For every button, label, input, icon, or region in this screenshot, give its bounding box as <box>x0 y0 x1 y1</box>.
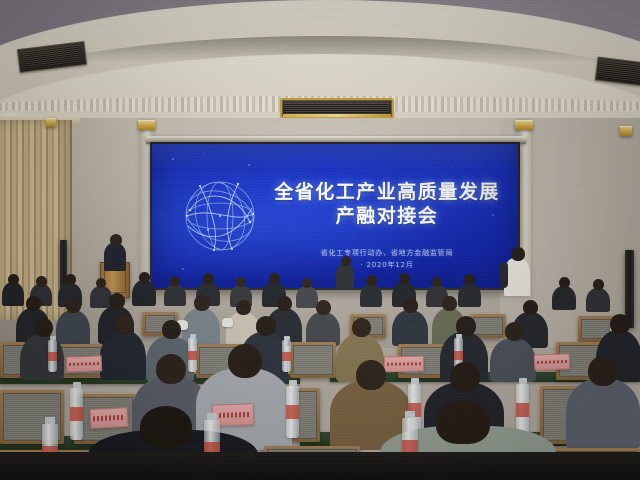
attendee-head <box>523 300 538 315</box>
attendee-head <box>170 276 180 286</box>
attendee-head <box>610 314 630 334</box>
podium-speaker-body <box>104 243 126 271</box>
pilaster-capital-left <box>138 120 155 130</box>
name-card <box>534 353 571 370</box>
attendee <box>296 286 318 308</box>
ceiling-vent-center-gold <box>282 100 392 117</box>
attendee-head <box>450 362 480 392</box>
led-presentation-screen: 全省化工产业高质量发展 产融对接会 省化工专项行动办、省地方金融监管局 · 20… <box>152 144 518 288</box>
water-bottle <box>70 388 83 440</box>
attendee <box>56 310 90 346</box>
attendee-head <box>559 277 570 288</box>
teacup <box>222 318 233 327</box>
attendee-head <box>505 322 524 341</box>
attendee-head <box>432 277 442 287</box>
attendee <box>458 283 481 307</box>
attendee-head <box>34 318 53 337</box>
attendee-head <box>356 360 386 390</box>
chair <box>290 342 336 378</box>
attendee-head <box>194 295 210 311</box>
attendee <box>566 378 640 450</box>
attendee <box>306 312 340 346</box>
conference-hall-photo: 全省化工产业高质量发展 产融对接会 省化工专项行动办、省地方金融监管局 · 20… <box>0 0 640 480</box>
attendee-head <box>366 275 377 286</box>
attendee <box>552 286 576 310</box>
attendee-head <box>162 320 181 339</box>
attendee-head <box>66 298 81 313</box>
attendee-foreground-head <box>436 400 490 444</box>
attendee-head <box>442 296 457 311</box>
attendee <box>360 284 382 307</box>
water-bottle <box>286 386 299 438</box>
attendee-head <box>302 278 312 288</box>
attendee-head <box>203 273 214 284</box>
attendee <box>132 280 156 306</box>
pilaster-capital-far-left <box>46 118 56 127</box>
attendee-head <box>109 293 125 309</box>
attendee <box>20 334 64 380</box>
name-card <box>384 356 424 373</box>
attendee-head <box>399 273 410 284</box>
attendee-foreground-head <box>140 406 192 448</box>
attendee-head <box>114 314 134 334</box>
attendee-head <box>26 296 41 311</box>
attendee-head <box>352 318 371 337</box>
pilaster-capital-far-right <box>620 126 632 136</box>
name-card <box>90 407 129 429</box>
attendee-head <box>403 298 418 313</box>
water-bottle <box>516 384 529 434</box>
attendee-head <box>65 274 76 285</box>
attendee-head <box>277 296 292 311</box>
attendee-head <box>236 300 251 315</box>
attendee-head <box>316 300 331 315</box>
name-card <box>66 355 103 372</box>
foreground-shadow <box>0 452 640 480</box>
audience-area <box>0 268 640 480</box>
attendee-head <box>156 354 186 384</box>
attendee <box>2 282 24 306</box>
attendee-head <box>96 278 106 288</box>
attendee-head <box>36 276 47 287</box>
attendee <box>164 284 186 306</box>
attendee <box>100 330 146 380</box>
attendee <box>586 288 610 312</box>
attendee-head <box>8 274 19 285</box>
water-bottle <box>282 340 291 372</box>
attendee-head <box>593 279 604 290</box>
attendee-head <box>464 274 475 285</box>
attendee-head <box>256 316 276 336</box>
standing-person-center-head <box>341 256 351 266</box>
podium-speaker-head <box>110 234 122 246</box>
screen-vignette <box>152 144 518 288</box>
attendee-head <box>456 316 476 336</box>
attendee-head <box>588 356 618 386</box>
attendee-head <box>139 272 150 283</box>
standing-attendant-head <box>511 247 525 261</box>
attendee <box>392 310 428 346</box>
water-bottle <box>188 338 197 372</box>
water-bottle <box>48 340 57 372</box>
attendee-head <box>236 277 246 287</box>
pilaster-capital-right <box>515 120 533 130</box>
attendee-head <box>269 273 280 284</box>
attendee <box>490 338 536 382</box>
attendee-head <box>228 344 262 378</box>
